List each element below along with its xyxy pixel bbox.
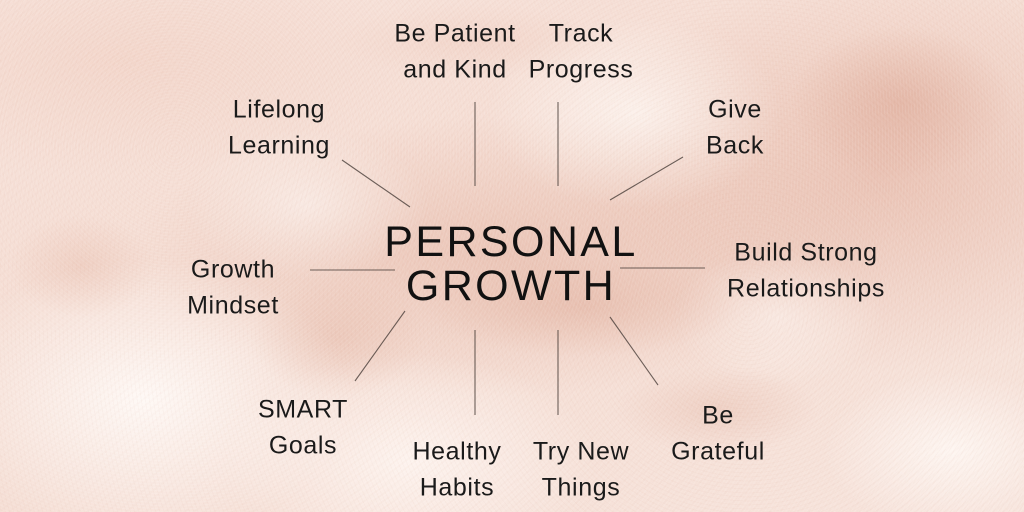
connector-line-lifelong-learning bbox=[342, 160, 410, 207]
center-title: PERSONAL GROWTH bbox=[384, 221, 637, 309]
node-label-track-progress: Track Progress bbox=[529, 17, 634, 88]
connector-line-be-grateful bbox=[610, 317, 658, 385]
node-label-give-back: Give Back bbox=[706, 93, 764, 164]
node-label-smart-goals: SMART Goals bbox=[258, 393, 348, 464]
node-label-build-strong-relationships: Build Strong Relationships bbox=[727, 236, 885, 307]
node-label-growth-mindset: Growth Mindset bbox=[187, 253, 279, 324]
node-label-be-grateful: Be Grateful bbox=[671, 399, 765, 470]
node-label-lifelong-learning: Lifelong Learning bbox=[228, 93, 330, 164]
node-label-try-new-things: Try New Things bbox=[533, 435, 629, 506]
node-label-be-patient-and-kind: Be Patient and Kind bbox=[394, 17, 515, 88]
node-label-healthy-habits: Healthy Habits bbox=[413, 435, 502, 506]
connector-line-smart-goals bbox=[355, 311, 405, 381]
connector-line-give-back bbox=[610, 157, 683, 200]
infographic-canvas: PERSONAL GROWTH Be Patient and KindTrack… bbox=[0, 0, 1024, 512]
